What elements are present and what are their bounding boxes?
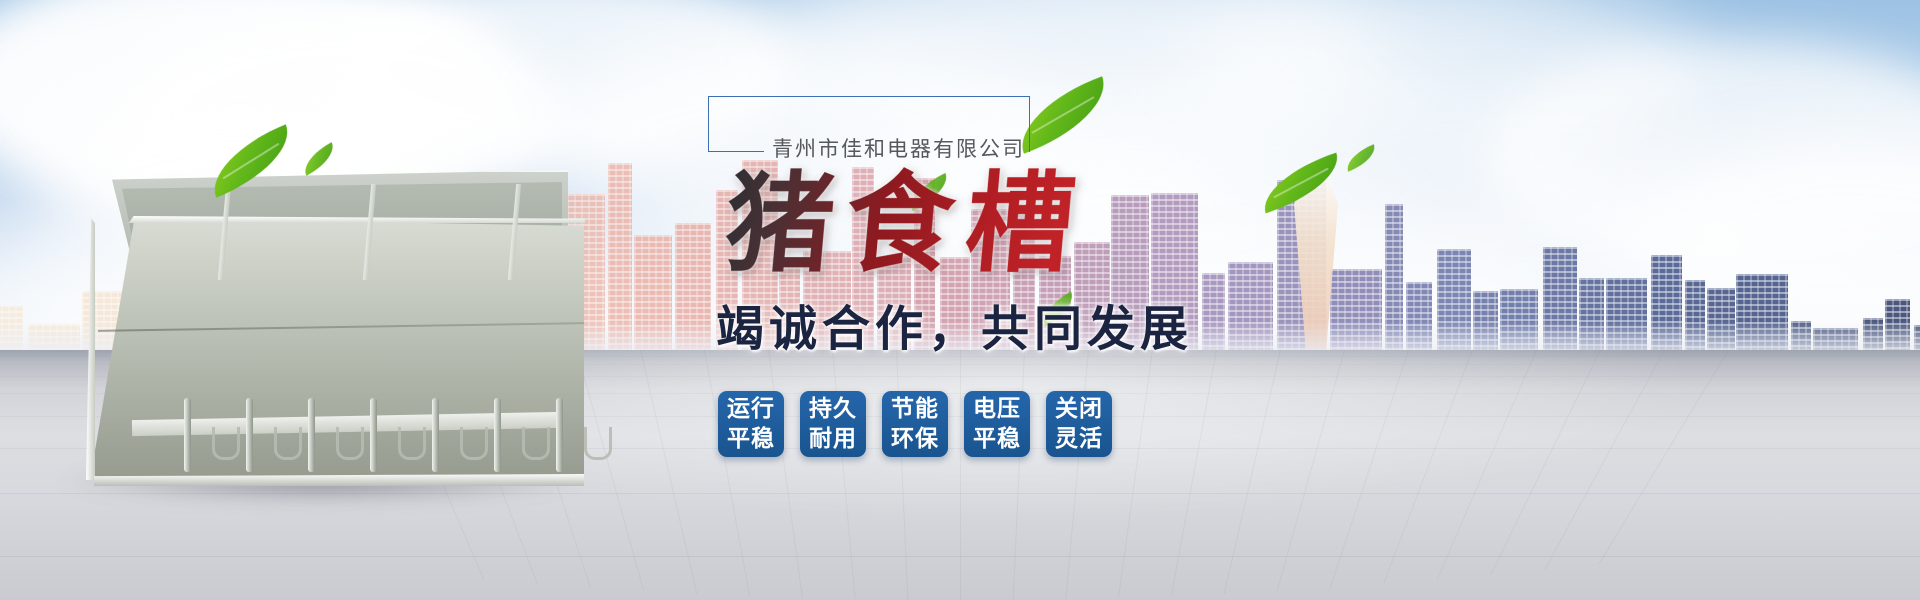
trough-divider-bar <box>308 398 315 472</box>
badge-line-1: 节能 <box>891 394 939 423</box>
trough-divider-bar <box>494 398 501 472</box>
trough-divider-bar <box>246 398 253 472</box>
badge-line-2: 灵活 <box>1055 424 1103 453</box>
frame-bottom-line <box>708 151 764 152</box>
frame-left-line <box>708 96 709 152</box>
trough-divider-bar <box>370 398 377 472</box>
feature-badge-1[interactable]: 运行平稳 <box>718 391 784 457</box>
trough-drinking-nipple <box>274 427 302 460</box>
feature-badge-4[interactable]: 电压平稳 <box>964 391 1030 457</box>
trough-drinking-nipple <box>522 427 550 460</box>
frame-top-line <box>708 96 1030 97</box>
trough-drinking-nipple <box>460 427 488 460</box>
company-name-frame: 青州市佳和电器有限公司 <box>708 96 1030 152</box>
promo-banner: 青州市佳和电器有限公司 猪食槽 竭诚合作，共同发展 运行平稳持久耐用节能环保电压… <box>0 0 1920 600</box>
banner-title: 猪食槽 <box>721 166 1265 283</box>
badge-line-2: 耐用 <box>809 424 857 453</box>
banner-copy-block: 青州市佳和电器有限公司 猪食槽 竭诚合作，共同发展 运行平稳持久耐用节能环保电压… <box>700 96 1260 457</box>
feature-badge-5[interactable]: 关闭灵活 <box>1046 391 1112 457</box>
trough-divider-bar <box>184 398 191 472</box>
badge-line-2: 平稳 <box>973 424 1021 453</box>
badge-line-2: 环保 <box>891 424 939 453</box>
trough-divider-bar <box>432 398 439 472</box>
trough-left-edge <box>86 218 95 480</box>
company-name: 青州市佳和电器有限公司 <box>768 133 1029 163</box>
badge-line-2: 平稳 <box>727 424 775 453</box>
trough-drinking-nipple <box>398 427 426 460</box>
badge-line-1: 电压 <box>973 394 1021 423</box>
badge-line-1: 持久 <box>809 394 857 423</box>
trough-drinking-nipple <box>336 427 364 460</box>
trough-drinking-nipple <box>584 427 612 460</box>
badge-line-1: 运行 <box>727 394 775 423</box>
feature-badge-3[interactable]: 节能环保 <box>882 391 948 457</box>
trough-drinking-nipple <box>212 427 240 460</box>
badge-line-1: 关闭 <box>1055 394 1103 423</box>
product-image-pig-trough <box>72 160 592 490</box>
trough-divider-bar <box>556 398 563 472</box>
feature-badge-list: 运行平稳持久耐用节能环保电压平稳关闭灵活 <box>718 391 1260 457</box>
banner-subtitle: 竭诚合作，共同发展 <box>716 289 1260 359</box>
feature-badge-2[interactable]: 持久耐用 <box>800 391 866 457</box>
frame-right-line <box>1029 96 1030 152</box>
